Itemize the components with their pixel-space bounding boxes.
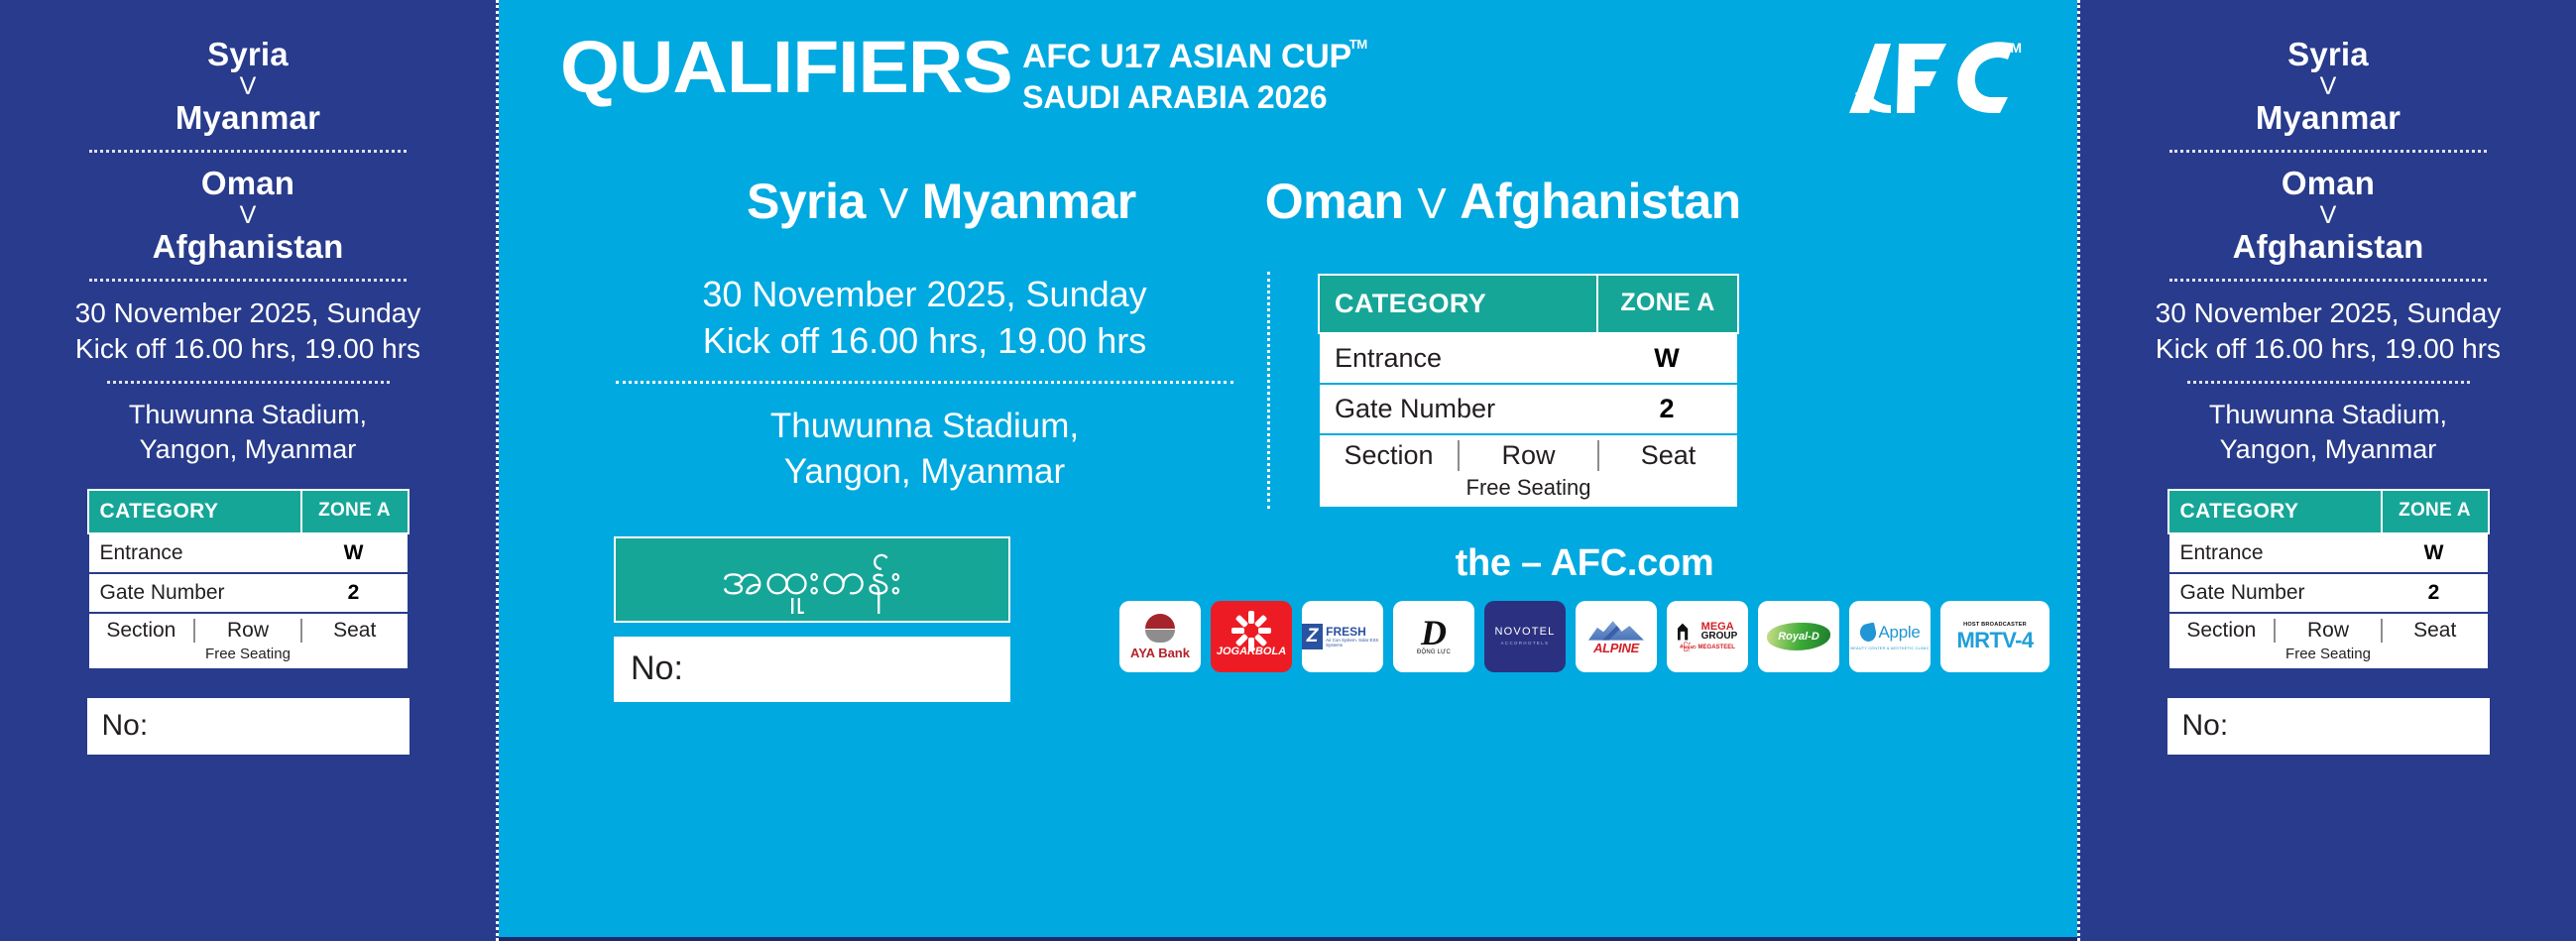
team-away: Myanmar	[176, 101, 320, 136]
category-table: CATEGORY ZONE A Entrance W Gate Number 2…	[1318, 274, 1739, 509]
venue-line-2: Yangon, Myanmar	[129, 432, 367, 467]
sponsor-sublabel: BEAUTY CENTER & AESTHETIC CLINIC	[1850, 647, 1929, 650]
column-header-zone: ZONE A	[300, 491, 408, 532]
match-title-2: OmanVAfghanistan	[1265, 173, 1741, 230]
divider-dotted	[89, 279, 407, 282]
sponsor-logo-apple-clinic: Apple BEAUTY CENTER & AESTHETIC CLINIC	[1849, 601, 1931, 672]
details-row: 30 November 2025, Sunday Kick off 16.00 …	[499, 230, 2077, 509]
sponsor-label: D	[1421, 618, 1447, 648]
category-table-header: CATEGORY ZONE A	[87, 489, 410, 534]
sponsor-logo-alpine: ALPINE	[1576, 601, 1657, 672]
team-home: Syria	[2256, 38, 2400, 72]
column-header-category: CATEGORY	[89, 491, 300, 532]
divider-dotted	[616, 381, 1233, 384]
sponsor-logo-dong-luc: D ĐỘNG LỰC	[1393, 601, 1474, 672]
row-label-entrance: Entrance	[2169, 534, 2381, 572]
column-header-seat: Seat	[300, 619, 408, 643]
column-header-section: Section	[2169, 619, 2275, 643]
team-away: Myanmar	[2256, 101, 2400, 136]
ticket-root: Syria V Myanmar Oman V Afghanistan 30 No…	[0, 0, 2576, 941]
stub-right-match-2: Oman V Afghanistan	[2233, 167, 2424, 265]
fixture-date: 30 November 2025, Sunday	[75, 295, 421, 331]
lower-row: အထူးတန်း No: the – AFC.com AYA Bank	[499, 509, 2077, 702]
seat-note: Free Seating	[89, 646, 408, 662]
fixture-venue: Thuwunna Stadium, Yangon, Myanmar	[770, 404, 1079, 496]
seat-note: Free Seating	[1320, 475, 1737, 501]
table-row: Entrance W	[1318, 334, 1739, 385]
sponsor-label-2: GROUP	[1701, 632, 1738, 642]
sponsor-label: ALPINE	[1593, 642, 1639, 655]
table-row: Entrance W	[2167, 534, 2490, 574]
category-table-header: CATEGORY ZONE A	[1318, 274, 1739, 334]
mountain-icon	[1588, 619, 1644, 641]
row-label-entrance: Entrance	[89, 534, 300, 572]
ticket-number-field[interactable]: No:	[2167, 698, 2490, 755]
column-header-row: Row	[193, 619, 300, 643]
sponsor-logo-royal-d: Royal-D	[1758, 601, 1839, 672]
column-header-zone: ZONE A	[2381, 491, 2488, 532]
category-table: CATEGORY ZONE A Entrance W Gate Number 2…	[2167, 489, 2490, 670]
match-titles-row: SyriaVMyanmar OmanVAfghanistan	[499, 115, 2077, 230]
table-row: Gate Number 2	[2167, 574, 2490, 614]
category-table: CATEGORY ZONE A Entrance W Gate Number 2…	[87, 489, 410, 670]
versus-label: V	[176, 74, 320, 99]
fixture-venue: Thuwunna Stadium, Yangon, Myanmar	[2209, 398, 2447, 467]
team-home: Syria	[176, 38, 320, 72]
team-away: Afghanistan	[2233, 230, 2424, 265]
apple-leaf-icon	[1858, 622, 1877, 643]
sponsor-logo-mega-group: MEGA GROUP #မြန်မာ MEGASTEEL	[1667, 601, 1748, 672]
column-header-row: Row	[2274, 619, 2381, 643]
column-header-seat: Seat	[1597, 440, 1737, 471]
competition-name: AFC U17 ASIAN CUP TM	[1022, 40, 1351, 75]
fixture-datetime: 30 November 2025, Sunday Kick off 16.00 …	[2156, 295, 2502, 367]
column-header-seat: Seat	[2381, 619, 2488, 643]
sponsor-label: Apple	[1879, 623, 1921, 643]
stub-left-match-1: Syria V Myanmar	[176, 38, 320, 136]
row-label-gate: Gate Number	[89, 574, 300, 612]
competition-name-text: AFC U17 ASIAN CUP	[1022, 38, 1351, 75]
team-home: Oman	[153, 167, 344, 201]
aya-dome-icon	[1145, 614, 1175, 629]
category-table-header: CATEGORY ZONE A	[2167, 489, 2490, 534]
fixture-kickoff: Kick off 16.00 hrs, 19.00 hrs	[702, 318, 1146, 365]
aya-arc-icon	[1145, 630, 1175, 643]
main-ticket: QUALIFIERS AFC U17 ASIAN CUP TM SAUDI AR…	[499, 0, 2077, 941]
fixture-date: 30 November 2025, Sunday	[2156, 295, 2502, 331]
sponsor-label: Royal-D	[1778, 631, 1819, 643]
sponsor-sublabel: #မြန်မာ MEGASTEEL	[1680, 643, 1735, 651]
header-bar: QUALIFIERS AFC U17 ASIAN CUP TM SAUDI AR…	[499, 0, 2077, 115]
stub-right-match-1: Syria V Myanmar	[2256, 38, 2400, 136]
burst-icon	[1233, 615, 1269, 645]
row-value-gate: 2	[300, 574, 408, 612]
sponsor-label: MRTV-4	[1956, 629, 2033, 651]
column-header-zone: ZONE A	[1596, 276, 1737, 332]
versus-label: V	[866, 179, 922, 228]
sponsor-label: FRESH	[1326, 626, 1383, 638]
team-home: Syria	[747, 174, 866, 229]
team-home: Oman	[2233, 167, 2424, 201]
ticket-number-field[interactable]: No:	[87, 698, 410, 755]
match-title-1: SyriaVMyanmar	[747, 173, 1136, 230]
sponsor-logo-jogarbola: JOGARBOLA	[1211, 601, 1292, 672]
column-header-section: Section	[1320, 440, 1458, 471]
bottom-accent-bar	[499, 937, 2077, 941]
column-header-section: Section	[89, 619, 194, 643]
team-home: Oman	[1265, 174, 1404, 229]
team-away: Myanmar	[922, 174, 1136, 229]
category-panel: CATEGORY ZONE A Entrance W Gate Number 2…	[1318, 272, 1739, 509]
versus-label: V	[2256, 74, 2400, 99]
burmese-category-label: အထူးတန်း	[614, 536, 1010, 623]
fixture-kickoff: Kick off 16.00 hrs, 19.00 hrs	[75, 331, 421, 367]
sponsor-strip: AYA Bank JOGARBOLA	[1119, 601, 2049, 672]
row-value-entrance: W	[300, 534, 408, 572]
z-mark-icon: Z	[1302, 624, 1323, 649]
website-url[interactable]: the – AFC.com	[1456, 542, 1714, 585]
seat-details-row: Section Row Seat Free Seating	[87, 614, 410, 670]
venue-line-1: Thuwunna Stadium,	[770, 404, 1079, 450]
trademark-icon: TM	[1349, 38, 1367, 52]
versus-label: V	[153, 203, 344, 228]
fixture-datetime: 30 November 2025, Sunday Kick off 16.00 …	[75, 295, 421, 367]
divider-dotted	[107, 381, 390, 384]
row-label-entrance: Entrance	[1320, 334, 1596, 383]
divider-dotted	[89, 150, 407, 153]
sponsor-label: AYA Bank	[1130, 647, 1190, 660]
table-row: Entrance W	[87, 534, 410, 574]
left-stub: Syria V Myanmar Oman V Afghanistan 30 No…	[0, 0, 499, 941]
competition-edition: SAUDI ARABIA 2026	[1022, 80, 1351, 115]
row-value-entrance: W	[2381, 534, 2488, 572]
sponsor-logo-novotel: NOVOTEL ACCORHOTELS	[1484, 601, 1566, 672]
table-row: Gate Number 2	[1318, 385, 1739, 435]
sponsor-label: NOVOTEL	[1495, 627, 1556, 639]
sponsor-logo-mrtv-4: HOST BROADCASTER MRTV-4	[1940, 601, 2049, 672]
stub-left-match-2: Oman V Afghanistan	[153, 167, 344, 265]
row-label-gate: Gate Number	[2169, 574, 2381, 612]
row-value-gate: 2	[2381, 574, 2488, 612]
fixture-venue: Thuwunna Stadium, Yangon, Myanmar	[129, 398, 367, 467]
trademark-icon: TM	[2002, 40, 2022, 56]
row-value-entrance: W	[1596, 334, 1737, 383]
leaf-shape-icon: Royal-D	[1767, 623, 1830, 650]
divider-dotted	[2187, 381, 2470, 384]
seat-details-row: Section Row Seat Free Seating	[1318, 435, 1739, 509]
fixture-date: 30 November 2025, Sunday	[702, 272, 1146, 318]
venue-line-1: Thuwunna Stadium,	[2209, 398, 2447, 432]
sponsor-logo-aya-bank: AYA Bank	[1119, 601, 1201, 672]
fixture-kickoff: Kick off 16.00 hrs, 19.00 hrs	[2156, 331, 2502, 367]
column-header-row: Row	[1458, 440, 1597, 471]
sponsor-logo-z-fresh: Z FRESH Air Con System. Solar ESS System…	[1302, 601, 1383, 672]
fixture-datetime: 30 November 2025, Sunday Kick off 16.00 …	[702, 272, 1146, 365]
afc-logo: TM	[1829, 34, 2018, 115]
row-label-gate: Gate Number	[1320, 385, 1596, 433]
right-stub: Syria V Myanmar Oman V Afghanistan 30 No…	[2077, 0, 2576, 941]
website-and-sponsors: the – AFC.com AYA Bank	[1119, 536, 2049, 672]
column-header-category: CATEGORY	[2169, 491, 2381, 532]
team-away: Afghanistan	[1460, 174, 1740, 229]
mega-mark-icon	[1678, 623, 1699, 641]
qualifiers-wordmark: QUALIFIERS	[560, 34, 1012, 101]
sponsor-sublabel: ĐỘNG LỰC	[1417, 649, 1451, 655]
row-value-gate: 2	[1596, 385, 1737, 433]
sponsor-sublabel: ACCORHOTELS	[1501, 642, 1550, 647]
sponsor-sublabel: Air Con System. Solar ESS Systems	[1326, 638, 1383, 648]
burmese-and-number: အထူးတန်း No:	[614, 536, 1010, 702]
versus-label: V	[2233, 203, 2424, 228]
divider-dotted	[2169, 150, 2487, 153]
venue-line-1: Thuwunna Stadium,	[129, 398, 367, 432]
venue-line-2: Yangon, Myanmar	[2209, 432, 2447, 467]
seat-details-row: Section Row Seat Free Seating	[2167, 614, 2490, 670]
fixture-details: 30 November 2025, Sunday Kick off 16.00 …	[616, 272, 1270, 509]
seat-note: Free Seating	[2169, 646, 2488, 662]
team-away: Afghanistan	[153, 230, 344, 265]
table-row: Gate Number 2	[87, 574, 410, 614]
venue-line-2: Yangon, Myanmar	[770, 449, 1079, 496]
ticket-number-field[interactable]: No:	[614, 637, 1010, 702]
divider-dotted	[2169, 279, 2487, 282]
column-header-category: CATEGORY	[1320, 276, 1596, 332]
versus-label: V	[1403, 179, 1460, 228]
competition-title-block: AFC U17 ASIAN CUP TM SAUDI ARABIA 2026	[1022, 34, 1351, 115]
